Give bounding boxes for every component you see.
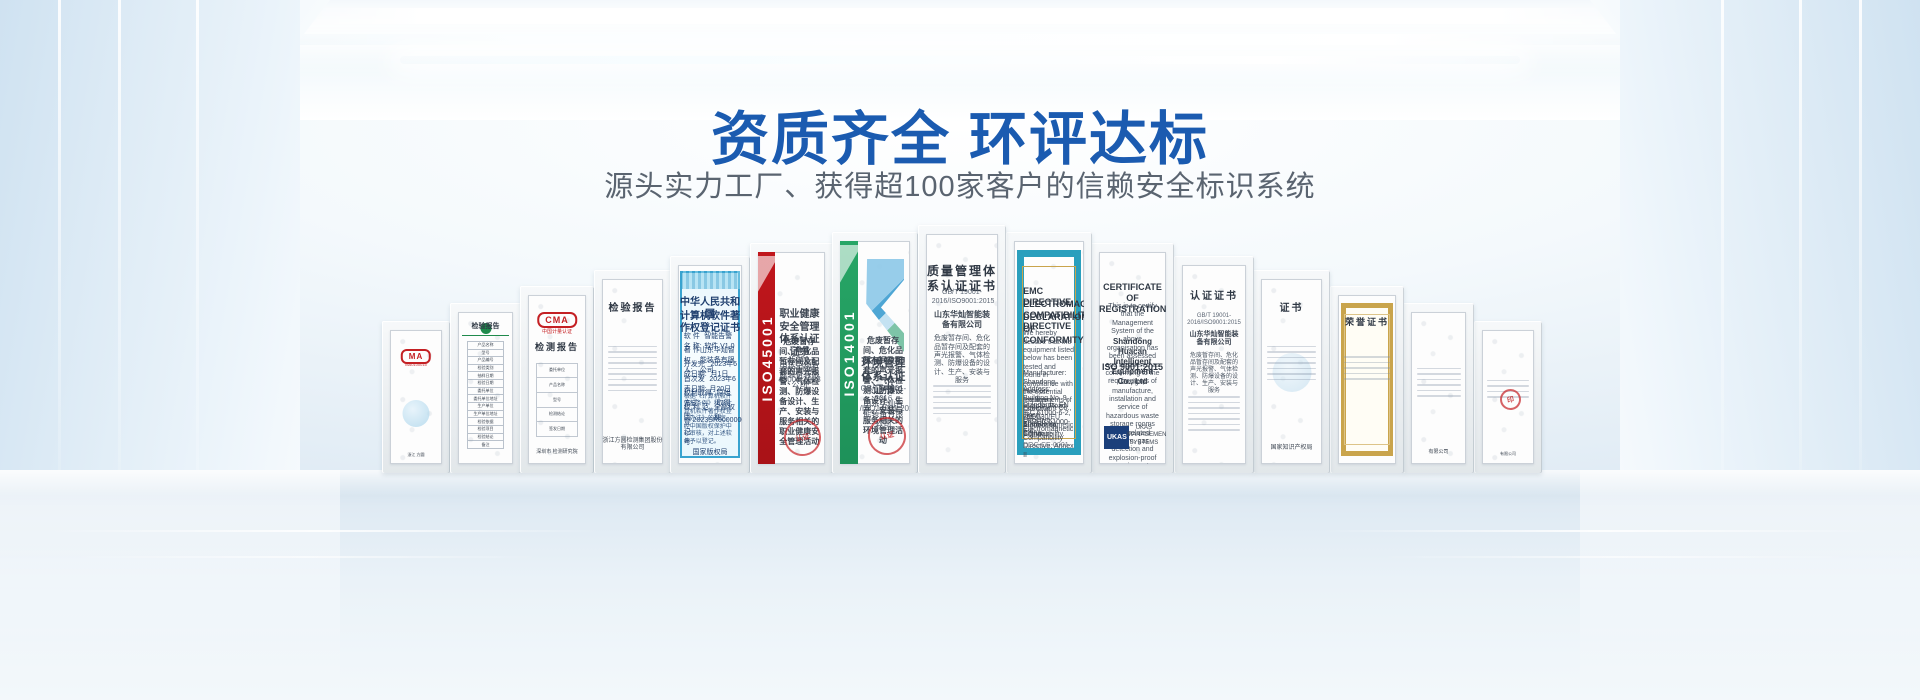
floor-streak [1380,556,1850,558]
certificate-standard: GB/T 19001-2016/ISO9001:2015 [1187,313,1241,328]
certificate-frame-patent-cn[interactable]: 证书国家知识产权局 [1253,270,1330,473]
certificate-frame-gold-frame[interactable]: 荣誉证书 [1330,286,1404,473]
certificate-footer: 有限公司 [1411,449,1466,455]
certificate-spine: ISO14001 [840,241,858,464]
certificate-frame-blank-right[interactable]: 有限公司 [1403,303,1474,473]
certificate-frame-software-copyright[interactable]: 中华人民共和国计算机软件著作权登记证书软 件 名 称:智能告警软件 V1.0著 … [670,256,750,473]
certificate-title: 荣誉证书 [1338,317,1396,328]
floor-streak [70,556,540,558]
floor-glow-left [0,470,340,700]
certificate-quality-cn-2: 认证证书GB/T 19001-2016/ISO9001:2015山东华灿智能装备… [1182,265,1246,464]
certificate-frame-test-report-1[interactable]: 检验报告产品名称型号产品编号检验类别抽样日期检验日期委托单位委托单位地址生产单位… [450,303,521,473]
certificate-title: 证书 [1261,303,1322,316]
report-field-row: 签发日期 [536,421,578,437]
spine-highlight [840,245,858,303]
ma-mark-subtext: MA0100015 [390,362,442,367]
certificate-frame-ce-declaration[interactable]: EMC DIRECTIVE,ELECTROMAGNETIC COMPATIBIL… [1006,232,1092,473]
report-field-row: 生产单位地址 [467,410,504,418]
certificate-spine: ISO45001 [758,252,775,464]
certificate-frame-iso14001[interactable]: ISO14001环境管理体系认证证书GB/T 24001-2016 /ISO14… [832,232,918,473]
certificate-blank-right: 有限公司 [1411,312,1466,464]
certificate-footer: 浙江 方圆 [390,452,442,457]
report-field-row: 产品名称 [467,341,504,349]
certificate-frame-iso9001-en[interactable]: CERTIFICATE OF REGISTRATIONThis is to ce… [1091,243,1174,473]
certificate-standard: GB/T 19001-2016/ISO9001:2015 [932,289,993,307]
certificate-company: 山东华灿智能装备有限公司 [932,310,993,330]
body-text-lines [1267,342,1316,385]
ceiling-light-cove-2 [250,34,1670,45]
ceiling-light-cove-3 [400,56,1520,64]
certificate-issuer: 国家版权局 [678,449,742,458]
body-text-lines [608,342,657,396]
report-field-row: 型号 [467,349,504,357]
certificate-ce-declaration: EMC DIRECTIVE,ELECTROMAGNETIC COMPATIBIL… [1014,241,1084,464]
certificate-iso9001-cn: 质量管理体系认证证书GB/T 19001-2016/ISO9001:2015山东… [926,234,998,464]
certificate-standard: ISO 9001:2015 [1099,362,1166,373]
certificate-footer: 根据《计算机软件保护条例》和《计算机软件著作权登记办法》的规定，经中国版权保护中… [684,394,738,447]
certificate-patent-cn: 证书国家知识产权局 [1261,279,1322,464]
body-text-lines [933,381,991,418]
certificate-scope: Design, manufacture, installation and se… [1105,379,1160,464]
body-text-lines [1417,364,1461,401]
certificate-title: 检验报告 [602,303,663,316]
copyright-ornament [680,271,740,289]
report-field-row: 备注 [467,440,504,449]
report-field-row: 检验依据 [467,417,504,425]
floor-glow-right [1580,470,1920,700]
certificate-footer: 有限公司 [1482,451,1534,456]
ce-signature: Authorised Signature [1023,422,1075,440]
report-field-row: 委托单位 [467,387,504,395]
certificate-footer: UKAS MANAGEMENT SYSTEMS [1127,425,1161,448]
certificate-frame-cma-report[interactable]: CMA中国计量认证检测报告委托单位产品名称型号检测结论签发日期深圳市 检测研究院 [520,286,594,473]
certificate-scope: 危废暂存间、危化品暂存间及配套的声光报警、气体检测、防爆设备的设计、生产、安装与… [1188,353,1241,396]
certificate-frame-inspection-report[interactable]: 检验报告浙江方圆检测集团股份有限公司 [594,270,671,473]
spine-standard-number: ISO45001 [759,314,775,401]
certificate-shelf: MAMA0100015浙江 方圆检验报告产品名称型号产品编号检验类别抽样日期检验… [382,225,1542,473]
report-field-row: 抽样日期 [467,371,504,379]
certificate-inspection-report: 检验报告浙江方圆检测集团股份有限公司 [602,279,663,464]
floor-streak [40,530,600,532]
report-field-row: 型号 [536,392,578,407]
page-subtitle: 源头实力工厂、获得超100家客户的信赖安全标识系统 [0,163,1920,205]
certificate-iso14001: ISO14001环境管理体系认证证书GB/T 24001-2016 /ISO14… [840,241,910,464]
certificate-scope: 危废暂存间、危化品暂存间及配套的声光报警、气体检测、防爆设备的设计、生产、安装与… [932,335,991,385]
certificate-ma-inspection: MAMA0100015浙江 方圆 [390,330,442,464]
certificate-gold-frame: 荣誉证书 [1338,295,1396,464]
report-field-row: 委托单位地址 [467,394,504,402]
certificate-cma-report: CMA中国计量认证检测报告委托单位产品名称型号检测结论签发日期深圳市 检测研究院 [528,295,586,464]
certificate-iso9001-en: CERTIFICATE OF REGISTRATIONThis is to ce… [1099,252,1166,464]
certificate-frame-seal-right[interactable]: 印有限公司 [1474,321,1542,473]
body-text-lines [1188,392,1239,435]
ceiling-light-cove-1 [120,8,1800,24]
report-field-row: 检验日期 [467,379,504,387]
ma-mark-subtext: 中国计量认证 [528,329,586,335]
ukas-logo: UKAS [1104,426,1129,449]
certificate-stage: MAMA0100015浙江 方圆检验报告产品名称型号产品编号检验类别抽样日期检验… [0,225,1920,485]
certificate-footer: 国家知识产权局 [1261,445,1322,453]
ce-document-number: DOC-CE-0001 [1023,442,1075,451]
report-field-table: 产品名称型号产品编号检验类别抽样日期检验日期委托单位委托单位地址生产单位生产单位… [467,341,504,449]
report-field-row: 产品编号 [467,356,504,364]
certificate-frame-iso9001-cn[interactable]: 质量管理体系认证证书GB/T 19001-2016/ISO9001:2015山东… [918,225,1006,473]
body-text-lines [1344,352,1390,384]
report-field-row: 检测结论 [536,407,578,422]
certificate-software-copyright: 中华人民共和国计算机软件著作权登记证书软 件 名 称:智能告警软件 V1.0著 … [678,265,742,464]
certificate-frame-ma-inspection[interactable]: MAMA0100015浙江 方圆 [382,321,450,473]
certificate-frame-quality-cn-2[interactable]: 认证证书GB/T 19001-2016/ISO9001:2015山东华灿智能装备… [1174,256,1254,473]
globe-emblem [403,400,430,427]
certificate-seal-right: 印有限公司 [1482,330,1534,464]
report-field-row: 委托单位 [536,363,578,378]
ma-mark-badge: CMA [537,312,577,328]
report-field-table: 委托单位产品名称型号检测结论签发日期 [536,363,578,437]
certificate-title: 认证证书 [1182,291,1246,304]
report-field-row: 产品名称 [536,377,578,392]
certificate-footer: 浙江方圆检测集团股份有限公司 [602,438,663,453]
spine-standard-number: ISO14001 [841,309,857,396]
floor-streak [1320,530,1880,532]
certificate-frame-iso45001[interactable]: ISO45001职业健康安全管理体系认证证书GB/T 45001-2020/IS… [750,243,833,473]
certificate-company: 山东华灿智能装备有限公司 [1187,331,1241,349]
certificate-test-report-1: 检验报告产品名称型号产品编号检验类别抽样日期检验日期委托单位委托单位地址生产单位… [458,312,513,464]
certificate-iso45001: ISO45001职业健康安全管理体系认证证书GB/T 45001-2020/IS… [758,252,825,464]
report-field-row: 生产单位 [467,402,504,410]
certificate-footer: 深圳市 检测研究院 [528,449,586,455]
report-field-row: 检验结论 [467,433,504,441]
report-rule [462,335,508,337]
certificate-title: 检验报告 [458,323,513,332]
report-field-row: 检验项目 [467,425,504,433]
report-field-row: 检验类别 [467,364,504,372]
certificate-title: 检测报告 [528,342,586,353]
spine-highlight [758,256,775,311]
qualification-banner: 资质齐全 环评达标 源头实力工厂、获得超100家客户的信赖安全标识系统 MAMA… [0,0,1920,700]
